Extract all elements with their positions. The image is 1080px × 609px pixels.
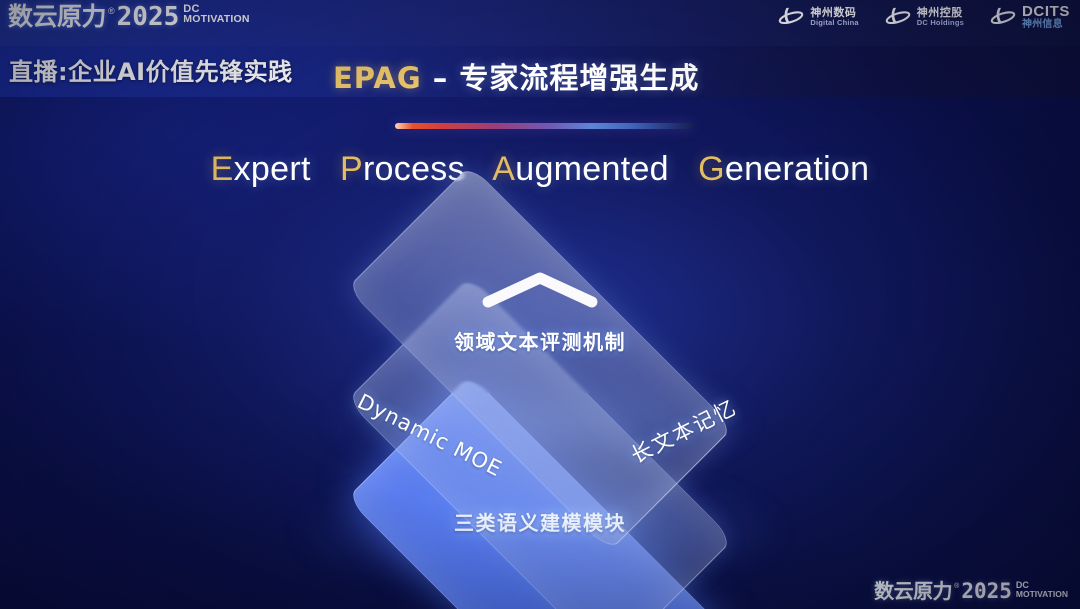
subtitle-word-expert: Expert	[211, 150, 311, 188]
brand-name-cn: 数云原力	[8, 3, 106, 31]
subtitle-cap: P	[340, 150, 363, 188]
watermark-registered-mark-icon: ®	[954, 582, 959, 592]
partner-label: 神州数码 Digital China	[810, 8, 858, 27]
watermark-name-cn: 数云原力	[874, 580, 952, 603]
title-separator: –	[422, 61, 460, 95]
registered-mark-icon: ®	[108, 5, 115, 17]
subtitle-rest: ugmented	[515, 150, 669, 188]
subtitle-word-augmented: Augmented	[492, 150, 669, 188]
subtitle-rest: xpert	[234, 150, 311, 188]
partner-logo-dcits: DCITS 神州信息	[990, 4, 1070, 30]
watermark-dc-motivation: DC MOTIVATION	[1016, 581, 1068, 598]
brand-watermark: 数云原力 ® 2025 DC MOTIVATION	[874, 580, 1068, 603]
subtitle-rest: rocess	[363, 150, 465, 188]
watermark-year: 2025	[961, 580, 1012, 603]
subtitle-cap: E	[211, 150, 234, 188]
partner-logo-group: 神州数码 Digital China 神州控股 DC Holdings	[778, 4, 1070, 30]
subtitle-space	[679, 150, 689, 188]
brand-lockup: 数云原力 ® 2025 DC MOTIVATION	[8, 3, 250, 31]
subtitle-rest: eneration	[725, 150, 869, 188]
subtitle-cap: G	[698, 150, 725, 188]
live-broadcast-title: 直播:企业AI价值先锋实践	[9, 52, 293, 87]
brand-year: 2025	[117, 3, 180, 31]
partner-logo-dc-holdings: 神州控股 DC Holdings	[885, 4, 964, 30]
title-acronym: EPAG	[333, 61, 422, 95]
spiral-logo-icon	[990, 4, 1016, 30]
partner-label: 神州控股 DC Holdings	[917, 8, 964, 27]
subtitle-cap: A	[492, 150, 515, 188]
partner-name-en: DC Holdings	[917, 19, 964, 27]
watermark-motivation-label: MOTIVATION	[1016, 590, 1068, 599]
brand-motivation-label: MOTIVATION	[183, 14, 249, 24]
slide-canvas: 数云原力 ® 2025 DC MOTIVATION 直播:企业AI价值先锋实践 …	[0, 0, 1080, 609]
partner-label: DCITS 神州信息	[1022, 4, 1070, 29]
layered-stack-diagram: 领域文本评测机制 Dynamic MOE 长文本记忆 三类语义建模模块	[287, 222, 793, 580]
subtitle-word-process: Process	[340, 150, 465, 188]
subtitle-word-generation: Generation	[698, 150, 869, 188]
subtitle: Expert Process Augmented Generation	[0, 150, 1080, 189]
brand-dc-motivation: DC MOTIVATION	[183, 4, 249, 24]
partner-logo-digital-china: 神州数码 Digital China	[778, 4, 858, 30]
title-chinese: 专家流程增强生成	[459, 61, 699, 95]
gradient-divider	[395, 123, 693, 129]
partner-name-en: Digital China	[810, 19, 858, 27]
spiral-logo-icon	[778, 4, 804, 30]
spiral-logo-icon	[885, 4, 911, 30]
partner-name-cn: 神州信息	[1022, 20, 1070, 30]
page-title: EPAG – 专家流程增强生成	[333, 55, 699, 97]
subtitle-space	[320, 150, 330, 188]
partner-name-en: DCITS	[1022, 4, 1070, 19]
